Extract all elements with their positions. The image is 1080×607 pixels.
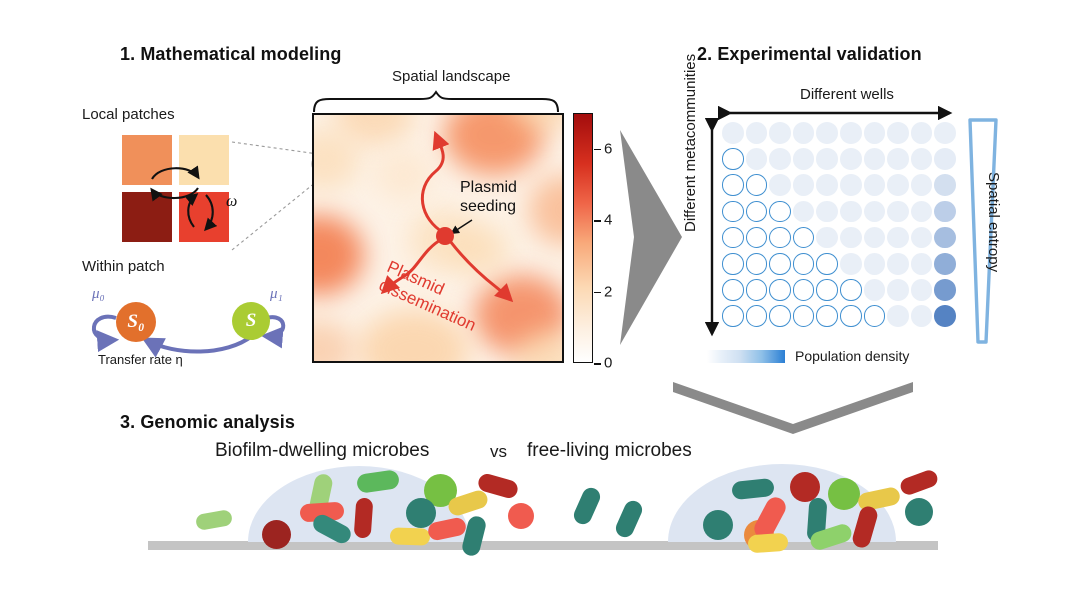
- well-r5-c7[interactable]: [887, 253, 909, 275]
- well-r5-c4[interactable]: [816, 253, 838, 275]
- well-r7-c0[interactable]: [722, 305, 744, 327]
- well-r0-c1[interactable]: [746, 122, 768, 144]
- microbe: [508, 503, 534, 529]
- substrate-surface: [148, 541, 938, 550]
- population-density-label: Population density: [795, 348, 909, 364]
- well-r5-c1[interactable]: [746, 253, 768, 275]
- well-r4-c4[interactable]: [816, 227, 838, 249]
- mu1-symbol: μ₁: [270, 286, 283, 303]
- arrow-validation-to-genomics: [673, 382, 913, 426]
- well-r4-c3[interactable]: [793, 227, 815, 249]
- well-r1-c2[interactable]: [769, 148, 791, 170]
- colorbar-tick-6: 6: [604, 140, 612, 157]
- well-r1-c4[interactable]: [816, 148, 838, 170]
- comparison-vs-label: vs: [490, 442, 507, 462]
- spatial-landscape-heatmap: Plasmid seeding Plasmid dissemination: [312, 113, 564, 363]
- well-r7-c2[interactable]: [769, 305, 791, 327]
- well-r3-c3[interactable]: [793, 201, 815, 223]
- microbe: [571, 485, 603, 527]
- well-r7-c1[interactable]: [746, 305, 768, 327]
- transfer-rate-label: Transfer rate η: [98, 352, 183, 367]
- plasmid-seeding-line1: Plasmid: [460, 178, 517, 197]
- well-r5-c8[interactable]: [911, 253, 933, 275]
- node-s0-label: S₀: [127, 311, 144, 333]
- well-r1-c7[interactable]: [887, 148, 909, 170]
- well-plate-grid: [722, 122, 960, 340]
- well-r5-c3[interactable]: [793, 253, 815, 275]
- well-r3-c6[interactable]: [864, 201, 886, 223]
- well-r7-c8[interactable]: [911, 305, 933, 327]
- microbe: [898, 468, 940, 497]
- well-r0-c9[interactable]: [934, 122, 956, 144]
- well-r2-c7[interactable]: [887, 174, 909, 196]
- local-patches-grid: ω: [122, 135, 232, 245]
- well-r3-c7[interactable]: [887, 201, 909, 223]
- well-r4-c7[interactable]: [887, 227, 909, 249]
- spatial-landscape-label: Spatial landscape: [392, 68, 510, 85]
- well-r1-c8[interactable]: [911, 148, 933, 170]
- biofilm-dome-left: [248, 466, 470, 542]
- well-r6-c1[interactable]: [746, 279, 768, 301]
- well-r1-c1[interactable]: [746, 148, 768, 170]
- microbe: [905, 498, 933, 526]
- different-wells-axis-arrow: [722, 106, 958, 120]
- different-metacommunities-axis-arrow: [705, 122, 719, 342]
- well-r3-c0[interactable]: [722, 201, 744, 223]
- well-r4-c8[interactable]: [911, 227, 933, 249]
- node-s0: S₀: [116, 302, 156, 342]
- microbe: [613, 498, 645, 540]
- well-r2-c0[interactable]: [722, 174, 744, 196]
- well-r0-c8[interactable]: [911, 122, 933, 144]
- well-r6-c2[interactable]: [769, 279, 791, 301]
- well-r1-c0[interactable]: [722, 148, 744, 170]
- population-density-gradient: [707, 350, 785, 363]
- well-r3-c9[interactable]: [934, 201, 956, 223]
- well-r3-c1[interactable]: [746, 201, 768, 223]
- well-r0-c5[interactable]: [840, 122, 862, 144]
- well-r2-c8[interactable]: [911, 174, 933, 196]
- well-r2-c9[interactable]: [934, 174, 956, 196]
- well-r4-c1[interactable]: [746, 227, 768, 249]
- well-r5-c2[interactable]: [769, 253, 791, 275]
- well-r1-c6[interactable]: [864, 148, 886, 170]
- spatial-entropy-label: Spatial entropy: [985, 172, 1002, 272]
- comparison-left-label: Biofilm-dwelling microbes: [215, 440, 429, 462]
- node-s: S: [232, 302, 270, 340]
- well-r4-c5[interactable]: [840, 227, 862, 249]
- well-r4-c6[interactable]: [864, 227, 886, 249]
- colorbar-tick-2: 2: [604, 283, 612, 300]
- well-r7-c3[interactable]: [793, 305, 815, 327]
- different-metacommunities-label: Different metacommunities: [682, 54, 699, 232]
- well-r0-c3[interactable]: [793, 122, 815, 144]
- panel-1-title: 1. Mathematical modeling: [120, 44, 341, 65]
- well-r2-c6[interactable]: [864, 174, 886, 196]
- figure-canvas: 1. Mathematical modeling Local patches ω: [0, 0, 1080, 607]
- colorbar-tick-0: 0: [604, 355, 612, 372]
- microbe: [476, 472, 519, 500]
- well-r4-c2[interactable]: [769, 227, 791, 249]
- well-r2-c1[interactable]: [746, 174, 768, 196]
- well-r7-c9[interactable]: [934, 305, 956, 327]
- well-r7-c6[interactable]: [864, 305, 886, 327]
- well-r3-c4[interactable]: [816, 201, 838, 223]
- well-r2-c5[interactable]: [840, 174, 862, 196]
- well-r5-c5[interactable]: [840, 253, 862, 275]
- well-r3-c2[interactable]: [769, 201, 791, 223]
- well-r1-c3[interactable]: [793, 148, 815, 170]
- comparison-right-label: free-living microbes: [527, 440, 692, 462]
- well-r5-c9[interactable]: [934, 253, 956, 275]
- well-r1-c9[interactable]: [934, 148, 956, 170]
- well-r3-c8[interactable]: [911, 201, 933, 223]
- well-r0-c6[interactable]: [864, 122, 886, 144]
- colorbar-gradient: [573, 113, 593, 363]
- well-r6-c4[interactable]: [816, 279, 838, 301]
- well-r4-c0[interactable]: [722, 227, 744, 249]
- within-patch-diagram: S₀ S μ₀ μ₁: [70, 280, 300, 360]
- well-r5-c6[interactable]: [864, 253, 886, 275]
- well-r6-c8[interactable]: [911, 279, 933, 301]
- local-patches-label: Local patches: [82, 106, 175, 123]
- plasmid-seeding-label: Plasmid seeding: [460, 178, 517, 216]
- well-r1-c5[interactable]: [840, 148, 862, 170]
- well-r5-c0[interactable]: [722, 253, 744, 275]
- well-r6-c3[interactable]: [793, 279, 815, 301]
- well-r7-c7[interactable]: [887, 305, 909, 327]
- node-s-label: S: [246, 310, 257, 332]
- well-r6-c7[interactable]: [887, 279, 909, 301]
- well-r7-c5[interactable]: [840, 305, 862, 327]
- well-r7-c4[interactable]: [816, 305, 838, 327]
- well-r0-c2[interactable]: [769, 122, 791, 144]
- well-r0-c0[interactable]: [722, 122, 744, 144]
- well-r6-c0[interactable]: [722, 279, 744, 301]
- mu0-symbol: μ₀: [92, 286, 105, 303]
- microbe: [195, 509, 233, 531]
- different-wells-label: Different wells: [800, 86, 894, 103]
- well-r3-c5[interactable]: [840, 201, 862, 223]
- well-r0-c4[interactable]: [816, 122, 838, 144]
- well-r6-c5[interactable]: [840, 279, 862, 301]
- panel-2-title: 2. Experimental validation: [697, 44, 922, 65]
- panel-3-title: 3. Genomic analysis: [120, 412, 295, 433]
- well-r2-c3[interactable]: [793, 174, 815, 196]
- colorbar-tick-4: 4: [604, 212, 612, 229]
- well-r4-c9[interactable]: [934, 227, 956, 249]
- well-r0-c7[interactable]: [887, 122, 909, 144]
- within-patch-label: Within patch: [82, 258, 165, 275]
- biofilm-dome-right: [668, 464, 896, 542]
- plasmid-seeding-line2: seeding: [460, 197, 517, 216]
- well-r2-c4[interactable]: [816, 174, 838, 196]
- well-r6-c9[interactable]: [934, 279, 956, 301]
- well-r6-c6[interactable]: [864, 279, 886, 301]
- plasmid-flow-arrows: [314, 115, 562, 361]
- well-r2-c2[interactable]: [769, 174, 791, 196]
- spatial-landscape-brace: [312, 92, 564, 114]
